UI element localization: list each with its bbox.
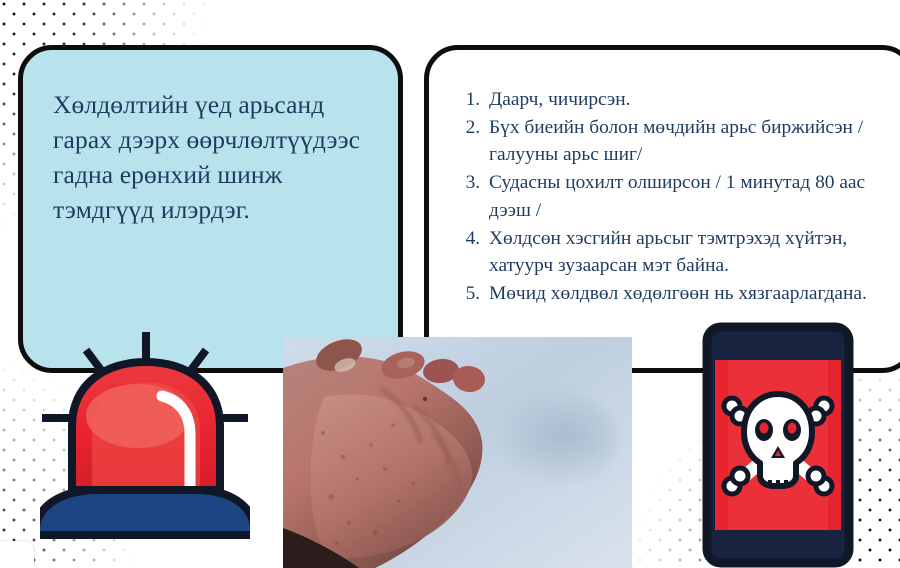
sign-item-5: Мөчид хөлдвөл хөдөлгөөн нь хязгаарлагдан… xyxy=(485,280,885,307)
sign-item-4: Хөлдсөн хэсгийн арьсыг тэмтрэхэд хүйтэн,… xyxy=(485,225,885,279)
signs-numbered-list: Даарч, чичирсэн.Бүх биеийн болон мөчдийн… xyxy=(429,50,900,307)
alarm-siren-icon xyxy=(40,330,250,545)
sign-item-3: Судасны цохилт олширсон / 1 минутад 80 а… xyxy=(485,169,885,223)
sign-item-1: Даарч, чичирсэн. xyxy=(485,86,885,113)
frostbite-foot-photo xyxy=(283,337,632,568)
phone-skull-warning-icon xyxy=(702,322,854,568)
sign-item-2: Бүх биеийн болон мөчдийн арьс биржийсэн … xyxy=(485,114,885,168)
slide-canvas: Хөлдөлтийн үед арьсанд гарах дээрх өөрчл… xyxy=(0,0,900,568)
left-bubble-text: Хөлдөлтийн үед арьсанд гарах дээрх өөрчл… xyxy=(23,50,398,228)
corner-artifact-chip xyxy=(0,541,34,568)
left-speech-bubble: Хөлдөлтийн үед арьсанд гарах дээрх өөрчл… xyxy=(18,45,403,373)
